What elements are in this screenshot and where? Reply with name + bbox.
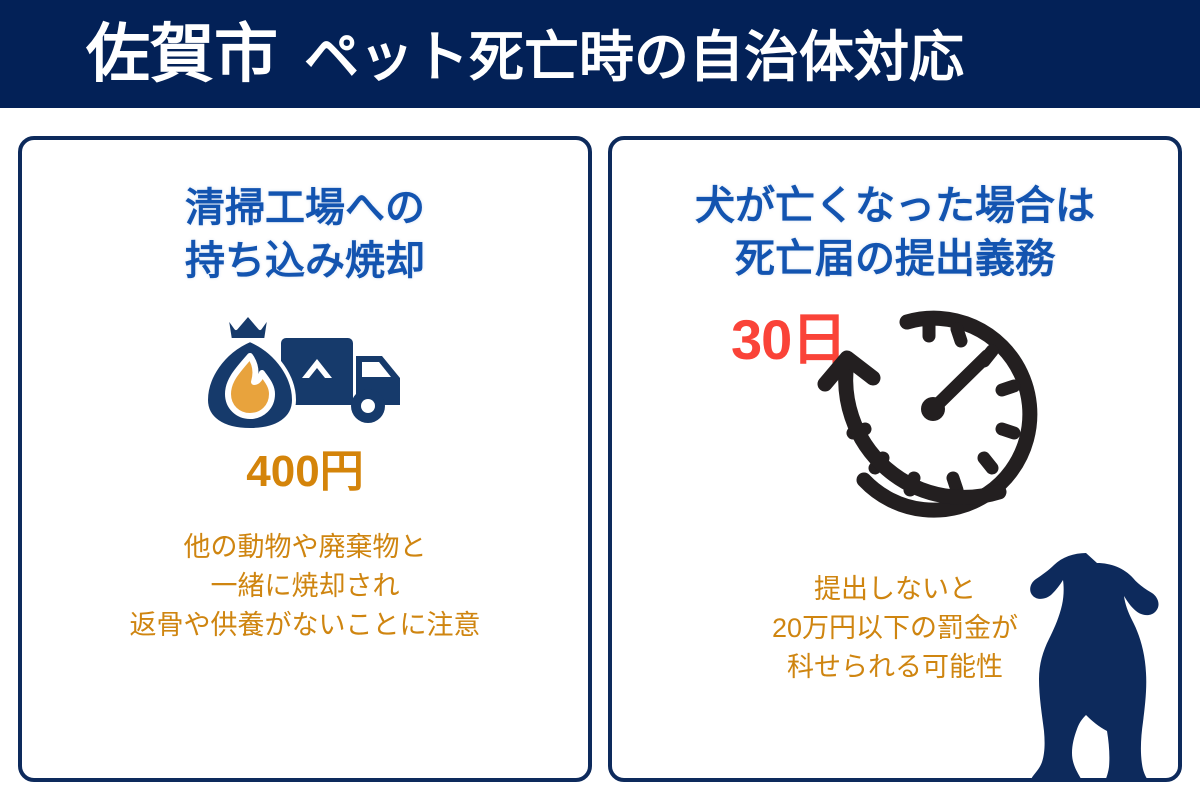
- header-subtitle: ペット死亡時の自治体対応: [304, 30, 964, 85]
- dog-silhouette-icon: [1014, 543, 1182, 782]
- card-death-notification: 犬が亡くなった場合は 死亡届の提出義務 30日: [608, 136, 1182, 782]
- card-incineration: 清掃工場への 持ち込み焼却: [18, 136, 592, 782]
- incineration-fee-amount: 400円: [246, 450, 363, 494]
- card-death-notification-title: 犬が亡くなった場合は 死亡届の提出義務: [695, 180, 1095, 286]
- clock-arrow-icon: [811, 296, 1057, 547]
- header-city-name: 佐賀市: [86, 22, 278, 86]
- penalty-note: 提出しないと 20万円以下の罰金が 科せられる可能性: [772, 570, 1018, 687]
- page-header: 佐賀市 ペット死亡時の自治体対応: [0, 0, 1200, 108]
- incineration-note: 他の動物や廃棄物と 一緒に焼却され 返骨や供養がないことに注意: [130, 528, 481, 645]
- cards-container: 清掃工場への 持ち込み焼却: [0, 108, 1200, 800]
- deadline-illustration: 30日: [725, 296, 1065, 544]
- page-title: 佐賀市 ペット死亡時の自治体対応: [86, 22, 964, 86]
- card-incineration-title: 清掃工場への 持ち込み焼却: [185, 182, 425, 288]
- garbage-bag-flame-truck-icon: [190, 312, 420, 432]
